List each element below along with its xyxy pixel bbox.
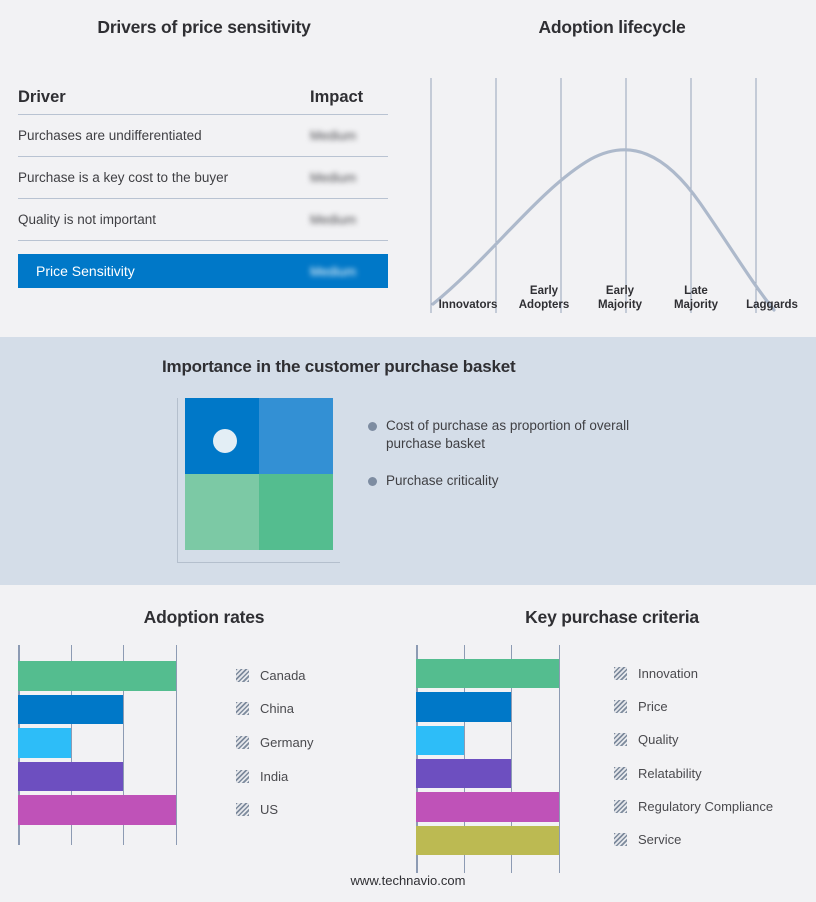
bar-fill (416, 659, 559, 688)
bar-fill (416, 759, 511, 788)
drivers-panel-title: Drivers of price sensitivity (0, 17, 408, 38)
legend-item: Quality (614, 732, 678, 747)
bar-regulatory-compliance (416, 792, 559, 821)
lifecycle-stage-labels: Innovators Early Adopters Early Majority… (430, 272, 810, 314)
bar-fill (416, 792, 559, 821)
legend-item: Service (614, 832, 681, 847)
footer-url: www.technavio.com (0, 873, 816, 888)
adoption-rates-title: Adoption rates (0, 607, 408, 628)
bar-quality (416, 726, 464, 755)
legend-item: Purchase criticality (368, 472, 658, 490)
legend-item: Germany (236, 735, 313, 750)
price-sensitivity-impact: Medium (310, 264, 388, 279)
hatch-swatch-icon (236, 803, 249, 816)
drivers-table-header: Driver Impact (18, 88, 388, 115)
stage-line1: Early (582, 284, 658, 298)
hatch-swatch-icon (236, 770, 249, 783)
hatch-swatch-icon (236, 669, 249, 682)
key-purchase-criteria-title: Key purchase criteria (408, 607, 816, 628)
legend-item: India (236, 769, 288, 784)
hatch-swatch-icon (614, 667, 627, 680)
table-row: Purchases are undifferentiated Medium (18, 115, 388, 157)
bar-fill (18, 795, 176, 825)
stage-line2: Innovators (430, 298, 506, 312)
bar-fill (416, 826, 559, 855)
impact-value: Medium (310, 212, 388, 227)
hatch-swatch-icon (614, 767, 627, 780)
column-header-impact: Impact (310, 88, 388, 107)
legend-item: China (236, 701, 294, 716)
adoption-rates-chart (18, 645, 228, 845)
stage-line2: Adopters (506, 298, 582, 312)
bullet-dot-icon (368, 422, 377, 431)
legend-label: US (260, 802, 278, 817)
bar-india (18, 762, 123, 792)
table-row: Purchase is a key cost to the buyer Medi… (18, 157, 388, 199)
bar-fill (18, 762, 123, 792)
bar-service (416, 826, 559, 855)
quadrant-cell-bottom-left (185, 474, 259, 550)
price-sensitivity-summary-row: Price Sensitivity Medium (18, 254, 388, 288)
key-purchase-criteria-panel: Key purchase criteria InnovationPriceQua… (408, 585, 816, 902)
lifecycle-stage-early-majority: Early Majority (582, 272, 658, 314)
legend-label: India (260, 769, 288, 784)
impact-value: Medium (310, 128, 388, 143)
lifecycle-stage-late-majority: Late Majority (658, 272, 734, 314)
chart-gridline (176, 645, 177, 845)
driver-label: Quality is not important (18, 212, 310, 227)
bar-fill (18, 695, 123, 725)
bar-innovation (416, 659, 559, 688)
bar-germany (18, 728, 71, 758)
drivers-table: Driver Impact Purchases are undifferenti… (18, 88, 388, 288)
lifecycle-stage-early-adopters: Early Adopters (506, 272, 582, 314)
quadrant-position-marker (213, 429, 237, 453)
adoption-rates-legend: CanadaChinaGermanyIndiaUS (236, 645, 396, 845)
legend-item: Cost of purchase as proportion of overal… (368, 417, 658, 453)
lifecycle-panel-title: Adoption lifecycle (408, 17, 816, 38)
stage-line2: Majority (658, 298, 734, 312)
legend-item: Regulatory Compliance (614, 799, 773, 814)
hatch-swatch-icon (614, 800, 627, 813)
adoption-rates-panel: Adoption rates CanadaChinaGermanyIndiaUS (0, 585, 408, 902)
importance-panel-title: Importance in the customer purchase bask… (0, 357, 816, 377)
stage-line1: Early (506, 284, 582, 298)
chart-gridline (559, 645, 560, 873)
price-sensitivity-label: Price Sensitivity (36, 263, 310, 279)
column-header-driver: Driver (18, 88, 310, 107)
legend-label: Regulatory Compliance (638, 799, 773, 814)
bar-price (416, 692, 511, 721)
drivers-panel: Drivers of price sensitivity Driver Impa… (0, 0, 408, 337)
hatch-swatch-icon (236, 736, 249, 749)
stage-line1: Late (658, 284, 734, 298)
stage-line2: Laggards (734, 298, 810, 312)
hatch-swatch-icon (614, 833, 627, 846)
quadrant-cell-bottom-right (259, 474, 333, 550)
bullet-dot-icon (368, 477, 377, 486)
bar-fill (416, 726, 464, 755)
driver-label: Purchase is a key cost to the buyer (18, 170, 310, 185)
legend-item: Innovation (614, 666, 698, 681)
driver-label: Purchases are undifferentiated (18, 128, 310, 143)
quadrant-grid (185, 398, 333, 550)
hatch-swatch-icon (614, 733, 627, 746)
importance-section: Importance in the customer purchase bask… (0, 337, 816, 585)
legend-label: Innovation (638, 666, 698, 681)
stage-line2: Majority (582, 298, 658, 312)
quadrant-chart (177, 398, 340, 563)
bar-us (18, 795, 176, 825)
legend-label: China (260, 701, 294, 716)
legend-label: Canada (260, 668, 306, 683)
hatch-swatch-icon (614, 700, 627, 713)
legend-label: Cost of purchase as proportion of overal… (386, 417, 644, 453)
bar-fill (18, 728, 71, 758)
legend-label: Relatability (638, 766, 702, 781)
bar-china (18, 695, 123, 725)
bottom-section: Adoption rates CanadaChinaGermanyIndiaUS… (0, 585, 816, 902)
top-section: Drivers of price sensitivity Driver Impa… (0, 0, 816, 337)
quadrant-cell-top-right (259, 398, 333, 474)
key-purchase-criteria-chart (416, 645, 606, 873)
bar-fill (416, 692, 511, 721)
adoption-lifecycle-panel: Adoption lifecycle Innovators (408, 0, 816, 337)
legend-item: Canada (236, 668, 306, 683)
importance-legend: Cost of purchase as proportion of overal… (368, 417, 658, 509)
legend-label: Service (638, 832, 681, 847)
impact-value: Medium (310, 170, 388, 185)
legend-item: Price (614, 699, 668, 714)
hatch-swatch-icon (236, 702, 249, 715)
legend-label: Purchase criticality (386, 472, 499, 490)
lifecycle-stage-innovators: Innovators (430, 272, 506, 314)
legend-item: Relatability (614, 766, 702, 781)
legend-label: Quality (638, 732, 678, 747)
bar-relatability (416, 759, 511, 788)
legend-item: US (236, 802, 278, 817)
legend-label: Germany (260, 735, 313, 750)
table-row: Quality is not important Medium (18, 199, 388, 241)
key-purchase-criteria-legend: InnovationPriceQualityRelatabilityRegula… (614, 645, 814, 873)
legend-label: Price (638, 699, 668, 714)
lifecycle-stage-laggards: Laggards (734, 272, 810, 314)
bar-canada (18, 661, 176, 691)
bar-fill (18, 661, 176, 691)
